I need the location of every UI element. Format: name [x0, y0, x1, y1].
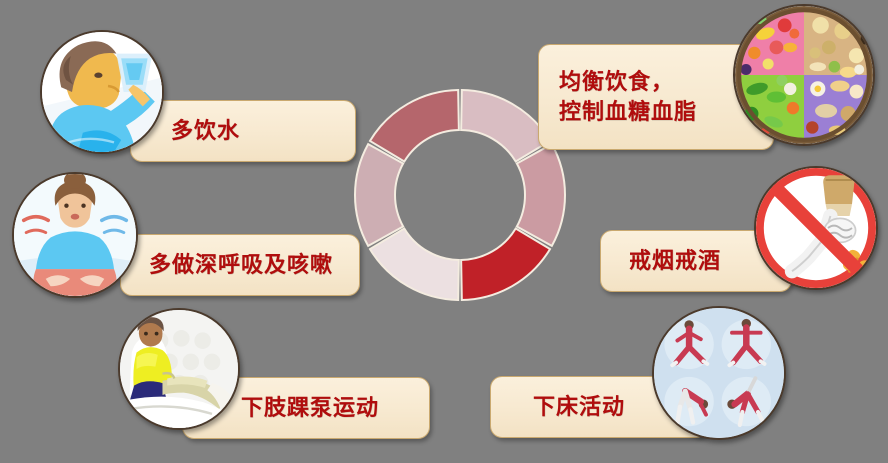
donut-slice[interactable]: [461, 90, 550, 162]
yoga-exercise-poses-icon: [652, 306, 786, 440]
donut-slice[interactable]: [461, 228, 550, 300]
donut-slice[interactable]: [370, 90, 459, 162]
no-smoking-no-drinking-icon: [754, 166, 878, 290]
label-text-no-smoke-no-alcohol: 戒烟戒酒: [629, 246, 721, 276]
label-text-ankle-pump: 下肢踝泵运动: [241, 393, 379, 423]
label-box-breathing[interactable]: 多做深呼吸及咳嗽: [120, 234, 360, 296]
donut-chart: [350, 85, 570, 305]
label-text-hydration: 多饮水: [171, 116, 240, 146]
balanced-diet-plate-icon: [733, 4, 875, 146]
man-drinking-water-icon: [40, 30, 164, 154]
deep-breathing-woman-icon: [12, 172, 138, 298]
label-text-diet: 均衡饮食， 控制血糖血脂: [559, 67, 697, 127]
patient-in-bed-leg-exercise-icon: [118, 308, 240, 430]
donut-slice[interactable]: [355, 144, 403, 246]
label-text-ambulation: 下床活动: [533, 392, 625, 422]
donut-slice[interactable]: [370, 228, 459, 300]
donut-slice[interactable]: [517, 144, 565, 246]
label-box-hydration[interactable]: 多饮水: [130, 100, 356, 162]
poster-canvas: 多饮水 多做深呼吸及咳嗽 下肢踝泵运动 均衡饮食， 控制血糖血脂 戒烟戒酒 下床…: [0, 0, 888, 463]
label-text-breathing: 多做深呼吸及咳嗽: [149, 250, 333, 280]
